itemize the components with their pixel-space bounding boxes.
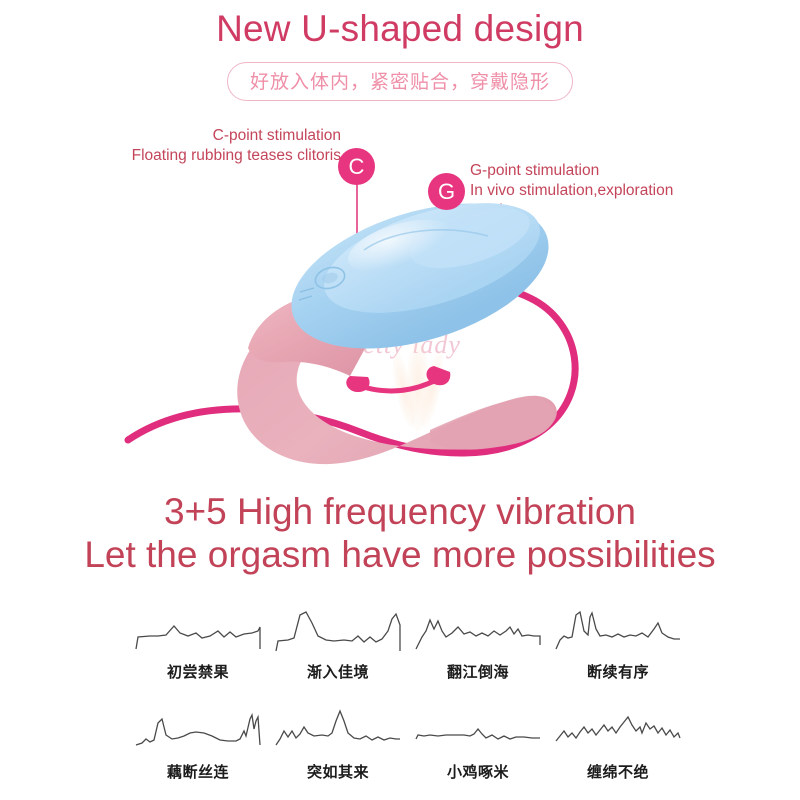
product-illustration xyxy=(0,180,800,500)
infographic-canvas: New U-shaped design 好放入体内，紧密贴合，穿戴隐形 C-po… xyxy=(0,0,800,800)
waveform-icon xyxy=(414,609,542,655)
page-title: New U-shaped design xyxy=(0,8,800,50)
waveform-icon xyxy=(274,709,402,755)
mode-label: 翻江倒海 xyxy=(447,661,509,682)
mode-label: 断续有序 xyxy=(587,661,649,682)
waveform-icon xyxy=(554,609,682,655)
badge-c-point: C xyxy=(338,148,375,185)
mode-label: 初尝禁果 xyxy=(167,661,229,682)
mode-item: 翻江倒海 xyxy=(408,582,548,682)
badge-g-point: G xyxy=(428,173,465,210)
annotation-g-line1: G-point stimulation xyxy=(470,161,673,181)
mode-label: 小鸡啄米 xyxy=(447,761,509,782)
mode-label: 藕断丝连 xyxy=(167,761,229,782)
mode-label: 突如其来 xyxy=(307,761,369,782)
mode-item: 缠绵不绝 xyxy=(548,682,688,782)
waveform-icon xyxy=(134,709,262,755)
annotation-c-line1: C-point stimulation xyxy=(76,126,341,146)
waveform-icon xyxy=(414,709,542,755)
mode-label: 缠绵不绝 xyxy=(587,761,649,782)
product-lower-arm-tip xyxy=(430,398,554,450)
mode-label: 渐入佳境 xyxy=(307,661,369,682)
mode-item: 小鸡啄米 xyxy=(408,682,548,782)
mode-item: 渐入佳境 xyxy=(268,582,408,682)
mode-item: 断续有序 xyxy=(548,582,688,682)
mode-item: 藕断丝连 xyxy=(128,682,268,782)
mode-item: 突如其来 xyxy=(268,682,408,782)
annotation-c-point: C-point stimulation Floating rubbing tea… xyxy=(76,126,341,166)
headline-line-2: Let the orgasm have more possibilities xyxy=(0,533,800,577)
waveform-icon xyxy=(274,609,402,655)
mode-item: 初尝禁果 xyxy=(128,582,268,682)
subtitle-container: 好放入体内，紧密贴合，穿戴隐形 xyxy=(0,62,800,101)
vibration-mode-grid: 初尝禁果 渐入佳境 翻江倒海 断续有序 藕断丝连 xyxy=(128,582,688,782)
subtitle-pill: 好放入体内，紧密贴合，穿戴隐形 xyxy=(227,62,573,101)
waveform-icon xyxy=(554,709,682,755)
waveform-icon xyxy=(134,609,262,655)
annotation-c-line2: Floating rubbing teases clitoris xyxy=(76,146,341,166)
